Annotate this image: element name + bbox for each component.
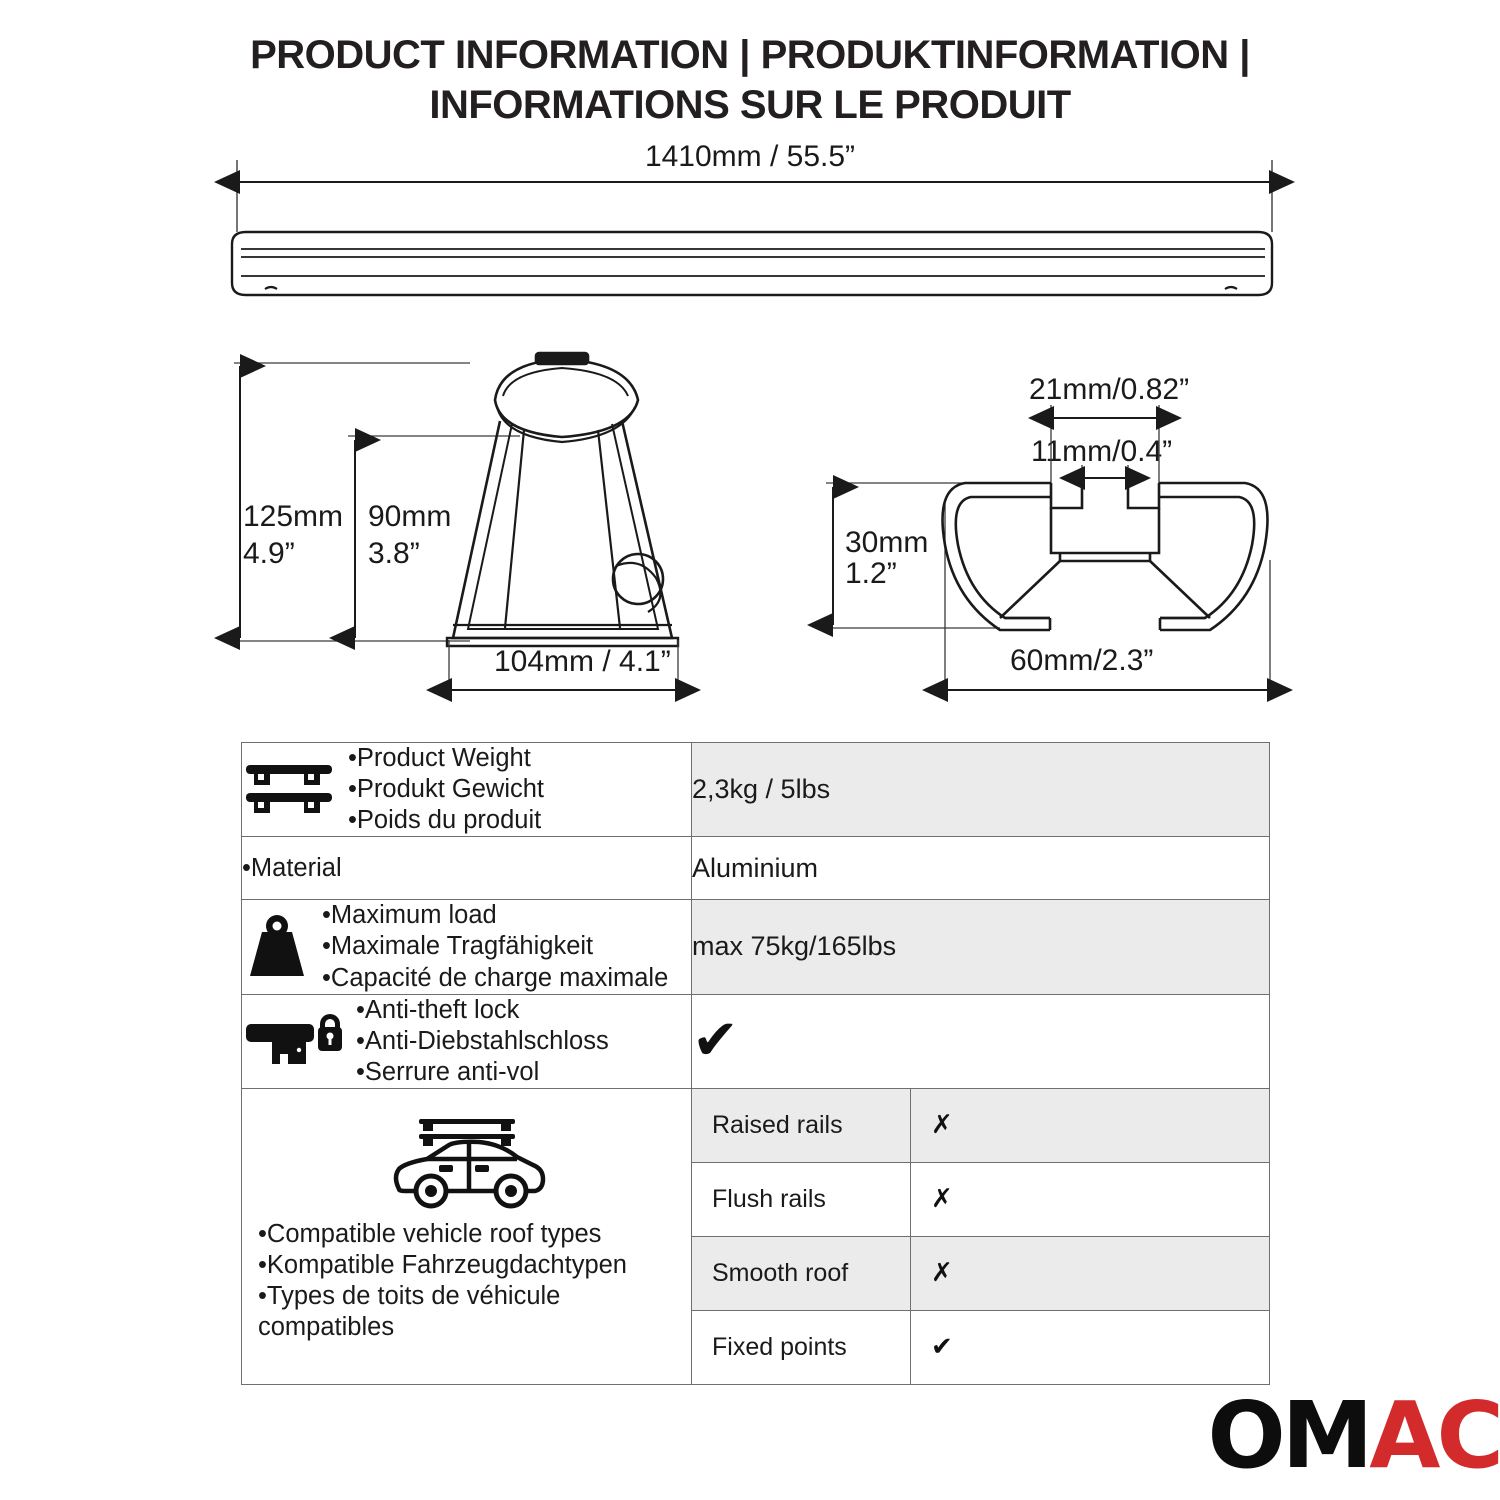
roof-type-row: Raised rails ✗ — [692, 1089, 1269, 1163]
row-label-cell-material: •Material — [242, 837, 692, 900]
table-row: •Product Weight •Produkt Gewicht •Poids … — [242, 743, 1270, 837]
dim-60mm-label: 60mm/2.3” — [1010, 644, 1153, 677]
check-mark-icon: ✔ — [931, 1332, 953, 1362]
lock-key-icon — [242, 1010, 346, 1072]
label-line: •Kompatible Fahrzeugdachtypen — [258, 1250, 627, 1281]
dim-125mm-label: 125mm — [243, 500, 343, 533]
bar-cross-section-drawing — [943, 483, 1268, 630]
label-line: •Types de toits de véhicule — [258, 1281, 627, 1312]
roof-type-row: Flush rails ✗ — [692, 1162, 1269, 1236]
dim-125mm-inch-label: 4.9” — [243, 537, 295, 570]
label-line: •Product Weight — [348, 743, 544, 774]
page-title-line-2: INFORMATIONS SUR LE PRODUIT — [0, 80, 1500, 130]
label-line: •Compatible vehicle roof types — [258, 1219, 627, 1250]
crossbar-side-view — [232, 232, 1272, 295]
roof-type-row: Smooth roof ✗ — [692, 1236, 1269, 1310]
foot-width-dimension — [449, 640, 678, 700]
label-line: •Maximum load — [322, 900, 668, 931]
row-label-text: •Anti-theft lock •Anti-Diebstahlschloss … — [356, 995, 609, 1088]
row-label-cell-product-weight: •Product Weight •Produkt Gewicht •Poids … — [242, 743, 692, 837]
specification-table: •Product Weight •Produkt Gewicht •Poids … — [241, 742, 1270, 1385]
roof-types-subtable-cell: Raised rails ✗ Flush rails ✗ — [692, 1088, 1270, 1384]
row-label-cell-roof-types: •Compatible vehicle roof types •Kompatib… — [242, 1088, 692, 1384]
label-line: •Anti-theft lock — [356, 995, 609, 1026]
table-row: •Material Aluminium — [242, 837, 1270, 900]
roof-rack-foot-drawing — [447, 353, 678, 646]
cross-mark-icon: ✗ — [931, 1184, 953, 1214]
table-row: •Maximum load •Maximale Tragfähigkeit •C… — [242, 900, 1270, 994]
row-label-cell-anti-theft-lock: •Anti-theft lock •Anti-Diebstahlschloss … — [242, 994, 692, 1088]
row-label-text: •Product Weight •Produkt Gewicht •Poids … — [348, 743, 544, 836]
dim-30mm-inch-label: 1.2” — [845, 557, 897, 590]
cross-mark-icon: ✗ — [931, 1258, 953, 1288]
cross-mark-icon: ✗ — [931, 1110, 953, 1140]
product-information-sheet: PRODUCT INFORMATION | PRODUKTINFORMATION… — [0, 0, 1500, 1500]
row-value-material: Aluminium — [692, 837, 1270, 900]
roof-type-mark-cell: ✗ — [911, 1236, 1270, 1310]
roof-type-name: Flush rails — [692, 1162, 911, 1236]
label-line: •Material — [242, 853, 342, 884]
roof-types-table: Raised rails ✗ Flush rails ✗ — [692, 1089, 1269, 1384]
roof-type-mark-cell: ✗ — [911, 1089, 1270, 1163]
row-value-product-weight: 2,3kg / 5lbs — [692, 743, 1270, 837]
dim-90mm-inch-label: 3.8” — [368, 537, 420, 570]
row-value-anti-theft-lock: ✔ — [692, 994, 1270, 1088]
logo-text-om: OM — [1208, 1382, 1370, 1489]
label-line: •Maximale Tragfähigkeit — [322, 931, 668, 962]
roof-type-row: Fixed points ✔ — [692, 1310, 1269, 1384]
row-label-text: •Maximum load •Maximale Tragfähigkeit •C… — [322, 900, 668, 993]
roof-type-name: Raised rails — [692, 1089, 911, 1163]
row-label-text: •Compatible vehicle roof types •Kompatib… — [242, 1219, 627, 1343]
dim-21mm-label: 21mm/0.82” — [1029, 373, 1189, 406]
label-line: •Anti-Diebstahlschloss — [356, 1026, 609, 1057]
crossbars-icon — [242, 759, 338, 821]
omac-logo: OMAC — [1208, 1390, 1500, 1482]
label-line: compatibles — [258, 1312, 627, 1343]
weight-icon — [242, 914, 312, 980]
row-label-cell-maximum-load: •Maximum load •Maximale Tragfähigkeit •C… — [242, 900, 692, 994]
label-line: •Capacité de charge maximale — [322, 963, 668, 994]
dim-11mm-label: 11mm/0.4” — [1031, 435, 1172, 468]
table-row: •Compatible vehicle roof types •Kompatib… — [242, 1088, 1270, 1384]
label-line: •Poids du produit — [348, 805, 544, 836]
roof-type-name: Smooth roof — [692, 1236, 911, 1310]
roof-type-mark-cell: ✗ — [911, 1162, 1270, 1236]
label-line: •Produkt Gewicht — [348, 774, 544, 805]
foot-height-dimensions — [234, 363, 520, 641]
page-title-line-1: PRODUCT INFORMATION | PRODUKTINFORMATION… — [0, 30, 1500, 80]
dim-30mm-label: 30mm — [845, 526, 928, 559]
check-mark-icon: ✔ — [692, 1008, 739, 1073]
roof-type-mark-cell: ✔ — [911, 1310, 1270, 1384]
profile-dimension-lines — [826, 405, 1270, 700]
row-label-text: •Material — [242, 853, 342, 884]
table-row: •Anti-theft lock •Anti-Diebstahlschloss … — [242, 994, 1270, 1088]
dim-104mm-label: 104mm / 4.1” — [494, 645, 671, 678]
label-line: •Serrure anti-vol — [356, 1057, 609, 1088]
roof-type-name: Fixed points — [692, 1310, 911, 1384]
car-with-rack-icon — [383, 1107, 551, 1215]
logo-text-ac: AC — [1369, 1382, 1500, 1489]
row-value-maximum-load: max 75kg/165lbs — [692, 900, 1270, 994]
dim-bar-length-label: 1410mm / 55.5” — [0, 140, 1500, 174]
dim-90mm-label: 90mm — [368, 500, 451, 533]
page-title: PRODUCT INFORMATION | PRODUKTINFORMATION… — [0, 30, 1500, 130]
